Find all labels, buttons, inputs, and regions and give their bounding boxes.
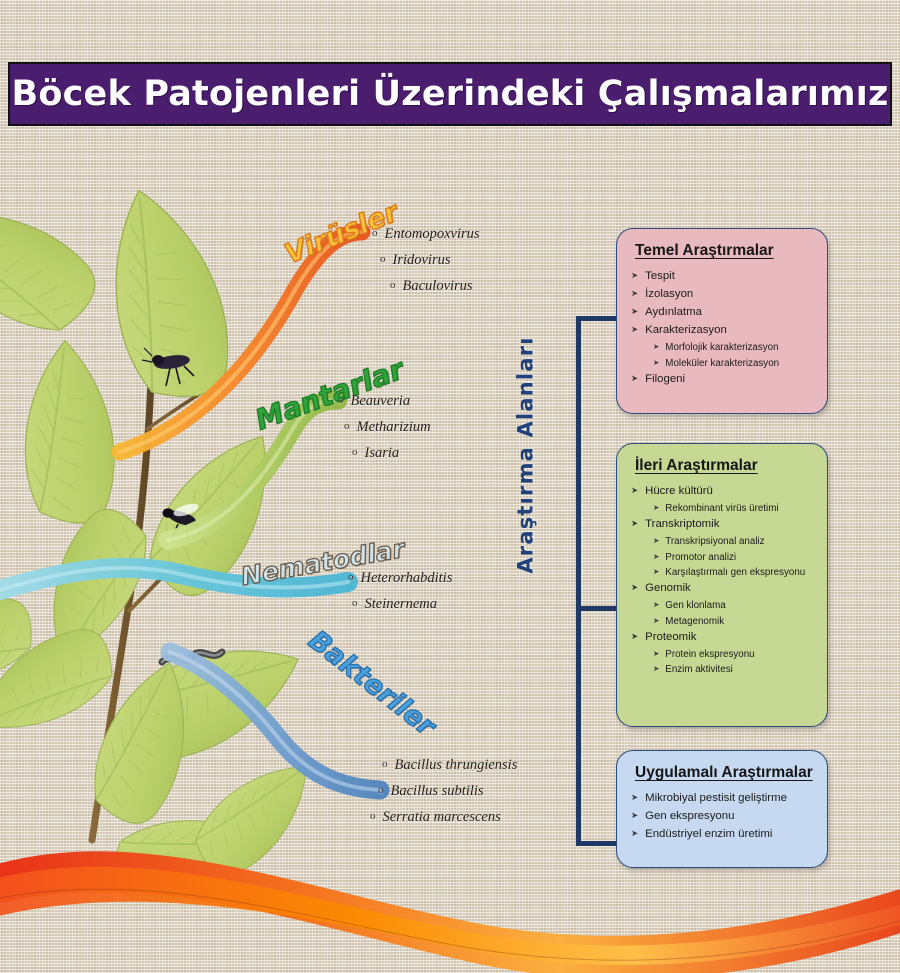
applied-research-heading: Uygulamalı Araştırmalar bbox=[635, 764, 815, 782]
research-areas-axis-label: Araştırma Alanları bbox=[496, 290, 556, 620]
list-item: Enzim aktivitesi bbox=[653, 664, 815, 675]
list-item: İzolasyon bbox=[631, 288, 815, 301]
basic-research-box: Temel Araştırmalar Tespit İzolasyon Aydı… bbox=[616, 228, 828, 414]
advanced-research-box: İleri Araştırmalar Hücre kültürü Rekombi… bbox=[616, 443, 828, 727]
list-item: Steinernema bbox=[352, 596, 452, 613]
list-item: Gen klonlama bbox=[653, 600, 815, 611]
list-item: Serratia marcescens bbox=[370, 809, 517, 826]
list-item: Morfolojik karakterizasyon bbox=[653, 342, 815, 353]
list-item: Hücre kültürü bbox=[631, 485, 815, 498]
basic-research-list: Tespit İzolasyon Aydınlatma Karakterizas… bbox=[631, 270, 815, 386]
species-list-viruses: Entomopoxvirus Iridovirus Baculovirus bbox=[372, 226, 480, 304]
list-item: Transkripsiyonal analiz bbox=[653, 536, 815, 547]
advanced-research-heading: İleri Araştırmalar bbox=[635, 457, 815, 475]
bracket-spine bbox=[576, 316, 581, 846]
page-title: Böcek Patojenleri Üzerindeki Çalışmaları… bbox=[11, 74, 888, 114]
list-item: Filogeni bbox=[631, 373, 815, 386]
list-item: Karşılaştırmalı gen ekspresyonu bbox=[653, 567, 815, 578]
list-item: Proteomik bbox=[631, 631, 815, 644]
list-item: Moleküler karakterizasyon bbox=[653, 358, 815, 369]
list-item: Tespit bbox=[631, 270, 815, 283]
list-item: Protein ekspresyonu bbox=[653, 649, 815, 660]
species-list-bacteria: Bacillus thrungiensis Bacillus subtilis … bbox=[382, 757, 517, 835]
page-title-banner: Böcek Patojenleri Üzerindeki Çalışmaları… bbox=[8, 62, 892, 126]
species-list-fungi: Beauveria Metharizium Isaria bbox=[338, 393, 431, 471]
list-item: Bacillus thrungiensis bbox=[382, 757, 517, 774]
applied-research-box: Uygulamalı Araştırmalar Mikrobiyal pesti… bbox=[616, 750, 828, 868]
list-item: Isaria bbox=[352, 445, 431, 462]
list-item: Metharizium bbox=[344, 419, 431, 436]
list-item: Beauveria bbox=[338, 393, 431, 410]
list-item: Rekombinant virüs üretimi bbox=[653, 503, 815, 514]
list-item: Entomopoxvirus bbox=[372, 226, 480, 243]
list-item: Heterorhabditis bbox=[348, 570, 452, 587]
species-list-nematodes: Heterorhabditis Steinernema bbox=[348, 570, 452, 622]
list-item: Metagenomik bbox=[653, 616, 815, 627]
list-item: Aydınlatma bbox=[631, 306, 815, 319]
list-item: Gen ekspresyonu bbox=[631, 810, 815, 823]
list-item: Mikrobiyal pestisit geliştirme bbox=[631, 792, 815, 805]
basic-research-heading: Temel Araştırmalar bbox=[635, 242, 815, 260]
list-item: Iridovirus bbox=[380, 252, 480, 269]
applied-research-list: Mikrobiyal pestisit geliştirme Gen ekspr… bbox=[631, 792, 815, 841]
list-item: Karakterizasyon bbox=[631, 324, 815, 337]
list-item: Baculovirus bbox=[390, 278, 480, 295]
list-item: Promotor analizi bbox=[653, 552, 815, 563]
axis-label-text: Araştırma Alanları bbox=[514, 336, 538, 573]
list-item: Genomik bbox=[631, 582, 815, 595]
advanced-research-list: Hücre kültürü Rekombinant virüs üretimi … bbox=[631, 485, 815, 676]
list-item: Transkriptomik bbox=[631, 518, 815, 531]
list-item: Endüstriyel enzim üretimi bbox=[631, 828, 815, 841]
list-item: Bacillus subtilis bbox=[378, 783, 517, 800]
